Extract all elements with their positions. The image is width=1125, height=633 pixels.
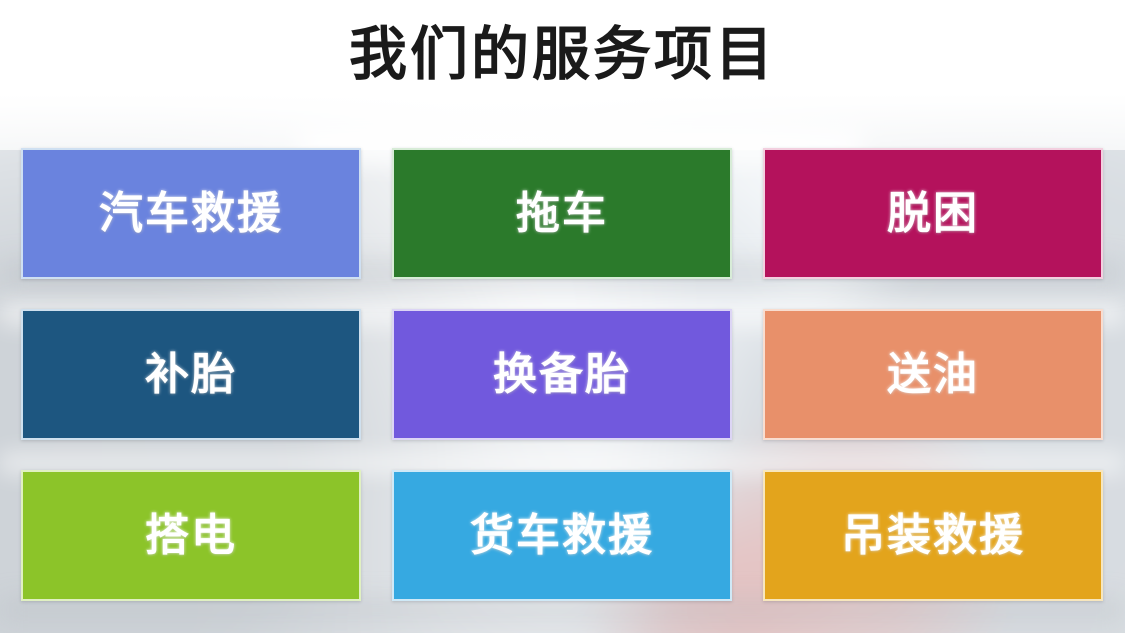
service-tile-lifting-rescue[interactable]: 吊装救援 [763,470,1103,601]
service-tile-truck-rescue[interactable]: 货车救援 [392,470,732,601]
service-tile-jump-start[interactable]: 搭电 [21,470,361,601]
page-title: 我们的服务项目 [0,22,1125,87]
service-tile-label: 货车救援 [470,514,654,558]
service-tile-label: 补胎 [145,353,237,397]
service-tile-label: 换备胎 [493,353,631,397]
service-tile-label: 脱困 [887,192,979,236]
service-tile-label: 送油 [887,353,979,397]
service-tile-label: 汽车救援 [99,192,283,236]
service-tile-fuel-delivery[interactable]: 送油 [763,309,1103,440]
service-tile-towing[interactable]: 拖车 [392,148,732,279]
service-tile-extrication[interactable]: 脱困 [763,148,1103,279]
page-title-text: 我们的服务项目 [349,22,776,87]
service-tile-label: 搭电 [145,514,237,558]
service-tile-car-rescue[interactable]: 汽车救援 [21,148,361,279]
background-shadow-band [0,600,1125,620]
service-poster: 我们的服务项目 汽车救援 拖车 脱困 补胎 换备胎 送油 搭电 货车救援 吊装救… [0,0,1125,633]
service-grid: 汽车救援 拖车 脱困 补胎 换备胎 送油 搭电 货车救援 吊装救援 [21,148,1104,601]
service-tile-spare-tire[interactable]: 换备胎 [392,309,732,440]
service-tile-label: 拖车 [516,192,608,236]
service-tile-label: 吊装救援 [841,514,1025,558]
service-tile-tire-repair[interactable]: 补胎 [21,309,361,440]
